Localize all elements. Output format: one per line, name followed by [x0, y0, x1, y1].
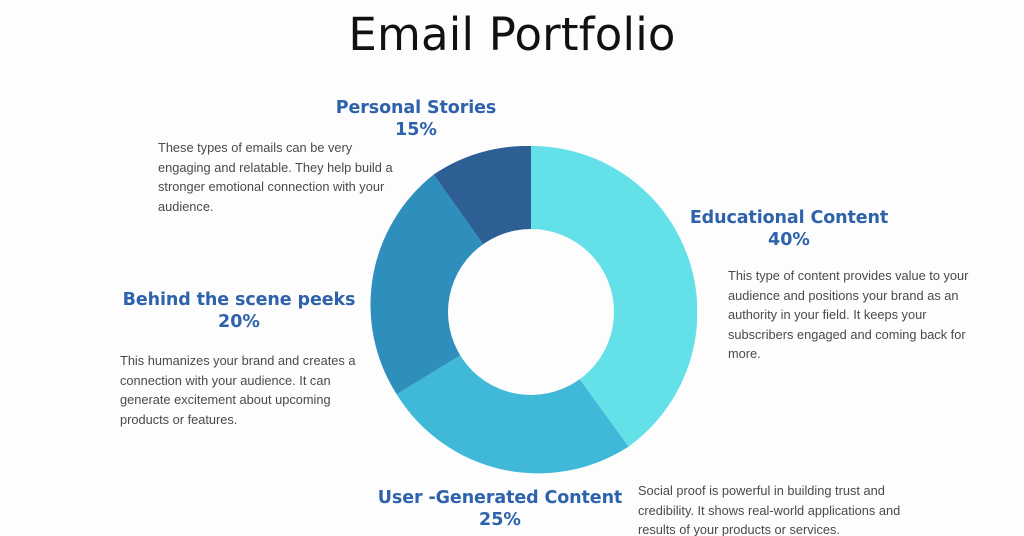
segment-title-behind-the-scene-peeks: Behind the scene peeks [116, 289, 362, 311]
segment-label-educational-content: Educational Content 40% [676, 207, 902, 252]
page-title: Email Portfolio [0, 8, 1024, 61]
segment-label-behind-the-scene-peeks: Behind the scene peeks 20% [116, 289, 362, 334]
donut-chart [365, 146, 697, 478]
donut-hole [448, 229, 614, 395]
infographic-canvas: Email Portfolio Personal Stories 15% The… [0, 0, 1024, 536]
segment-percent-educational-content: 40% [676, 229, 902, 251]
segment-percent-user-generated-content: 25% [367, 509, 633, 531]
segment-title-personal-stories: Personal Stories [300, 97, 532, 119]
segment-description-behind-the-scene-peeks: This humanizes your brand and creates a … [120, 351, 360, 429]
segment-description-personal-stories: These types of emails can be very engagi… [158, 138, 398, 216]
segment-description-user-generated-content: Social proof is powerful in building tru… [638, 481, 924, 536]
segment-title-educational-content: Educational Content [676, 207, 902, 229]
segment-label-personal-stories: Personal Stories 15% [300, 97, 532, 142]
segment-title-user-generated-content: User -Generated Content [367, 487, 633, 509]
segment-description-educational-content: This type of content provides value to y… [728, 266, 970, 364]
segment-label-user-generated-content: User -Generated Content 25% [367, 487, 633, 532]
segment-percent-behind-the-scene-peeks: 20% [116, 311, 362, 333]
